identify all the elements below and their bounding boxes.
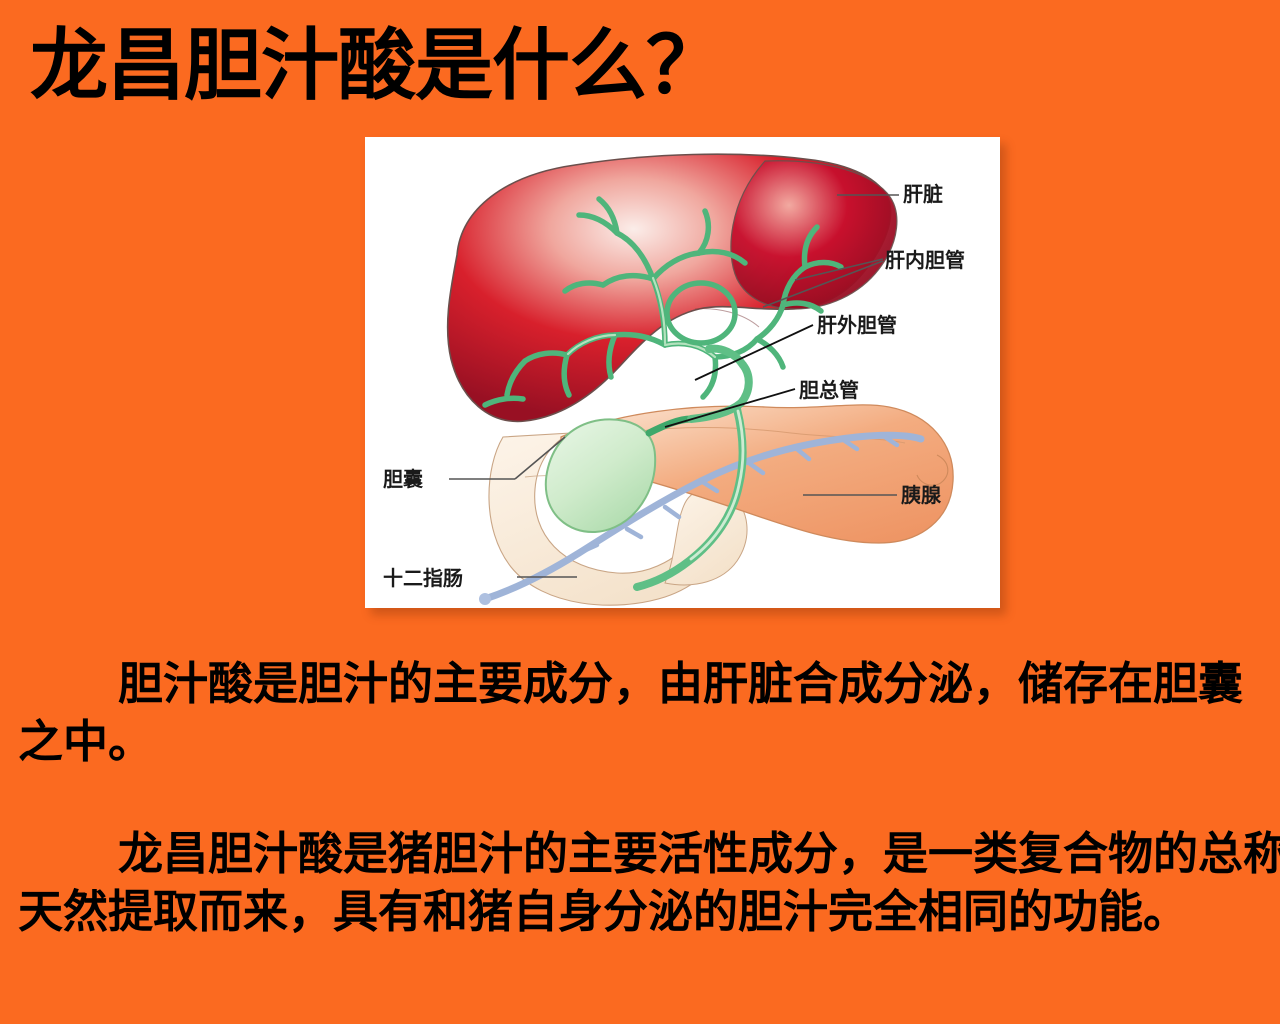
- page-title: 龙昌胆汁酸是什么？: [30, 18, 723, 114]
- biliary-system-illustration: 肝脏 肝内胆管 肝外胆管 胆总管 胰腺 胆囊 十二指肠: [365, 137, 1000, 608]
- paragraph-2-line-2: 天然提取而来，具有和猪自身分泌的胆汁完全相同的功能。: [18, 883, 1280, 941]
- figure-label-gallbladder: 胆囊: [383, 467, 423, 491]
- figure-label-common-bile-duct: 胆总管: [799, 378, 859, 402]
- paragraph-1-line-2: 之中。: [18, 713, 1280, 771]
- paragraph-1-line-1: 胆汁酸是胆汁的主要成分，由肝脏合成分泌，储存在胆囊: [18, 655, 1280, 713]
- figure-label-pancreas: 胰腺: [901, 483, 942, 507]
- paragraph-2-line-1: 龙昌胆汁酸是猪胆汁的主要活性成分，是一类复合物的总称，: [18, 825, 1280, 883]
- figure-label-liver: 肝脏: [903, 182, 943, 206]
- slide-canvas: 龙昌胆汁酸是什么？: [0, 0, 1280, 1024]
- body-paragraph-2: 龙昌胆汁酸是猪胆汁的主要活性成分，是一类复合物的总称， 天然提取而来，具有和猪自…: [18, 825, 1280, 941]
- body-paragraph-1: 胆汁酸是胆汁的主要成分，由肝脏合成分泌，储存在胆囊 之中。: [18, 655, 1280, 771]
- figure-label-extrahepatic-duct: 肝外胆管: [817, 313, 897, 337]
- figure-label-intrahepatic-duct: 肝内胆管: [885, 248, 965, 272]
- figure-label-duodenum: 十二指肠: [383, 566, 463, 590]
- anatomy-figure: 肝脏 肝内胆管 肝外胆管 胆总管 胰腺 胆囊 十二指肠: [365, 137, 1000, 608]
